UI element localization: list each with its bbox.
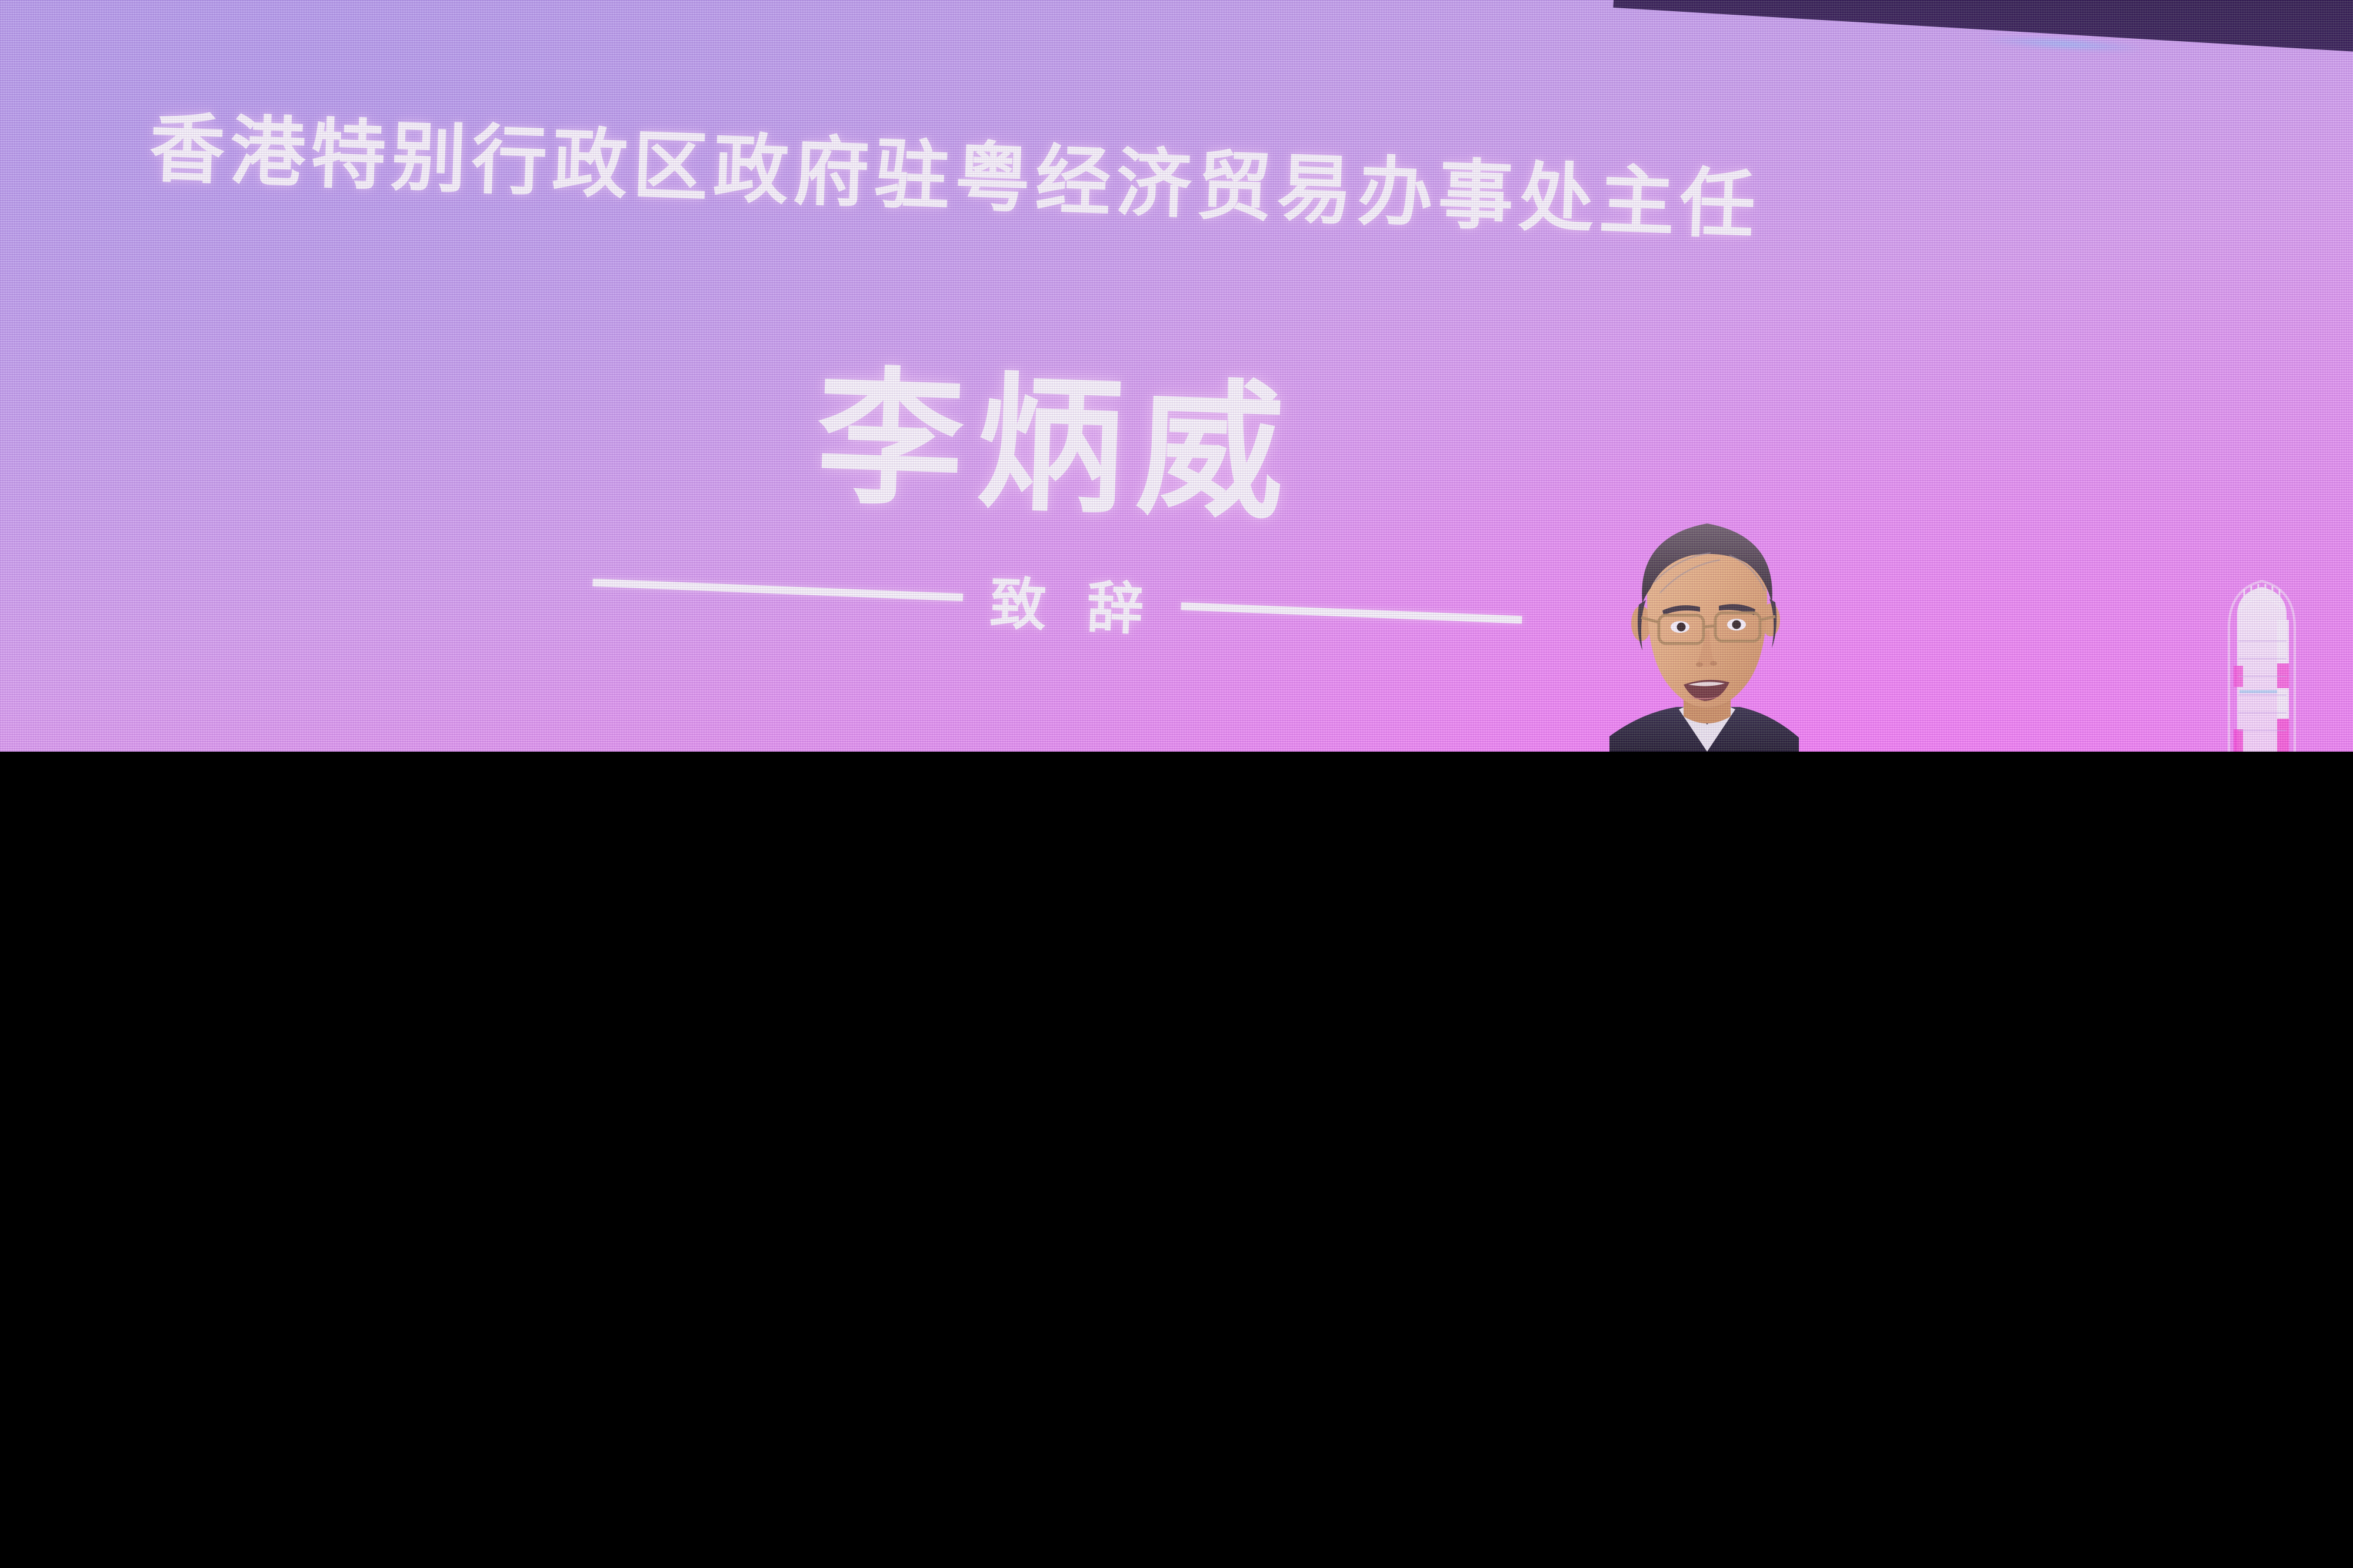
speaker-portrait bbox=[1553, 494, 1859, 752]
slide-title-line: 香港特别行政区政府驻粤经济贸易办事处主任 bbox=[148, 87, 1762, 253]
hong-kong-tower-icon bbox=[2203, 559, 2321, 752]
slide-subtitle-row: 致 辞 bbox=[591, 547, 1547, 656]
led-video-wall: 香港特别行政区政府驻粤经济贸易办事处主任 李炳威 致 辞 bbox=[0, 0, 2353, 752]
wall-edge-light-glint bbox=[1988, 35, 2141, 52]
stage-scene: 香港特别行政区政府驻粤经济贸易办事处主任 李炳威 致 辞 bbox=[0, 0, 2353, 1568]
letterbox-black-area bbox=[0, 752, 2353, 1568]
subtitle-rule-left-icon bbox=[592, 578, 963, 600]
subtitle-rule-right-icon bbox=[1181, 602, 1522, 623]
slide-speaker-name: 李炳威 bbox=[814, 318, 1301, 548]
wall-edge-dark-corner bbox=[1613, 0, 2353, 53]
slide-subtitle-label: 致 辞 bbox=[988, 558, 1156, 646]
